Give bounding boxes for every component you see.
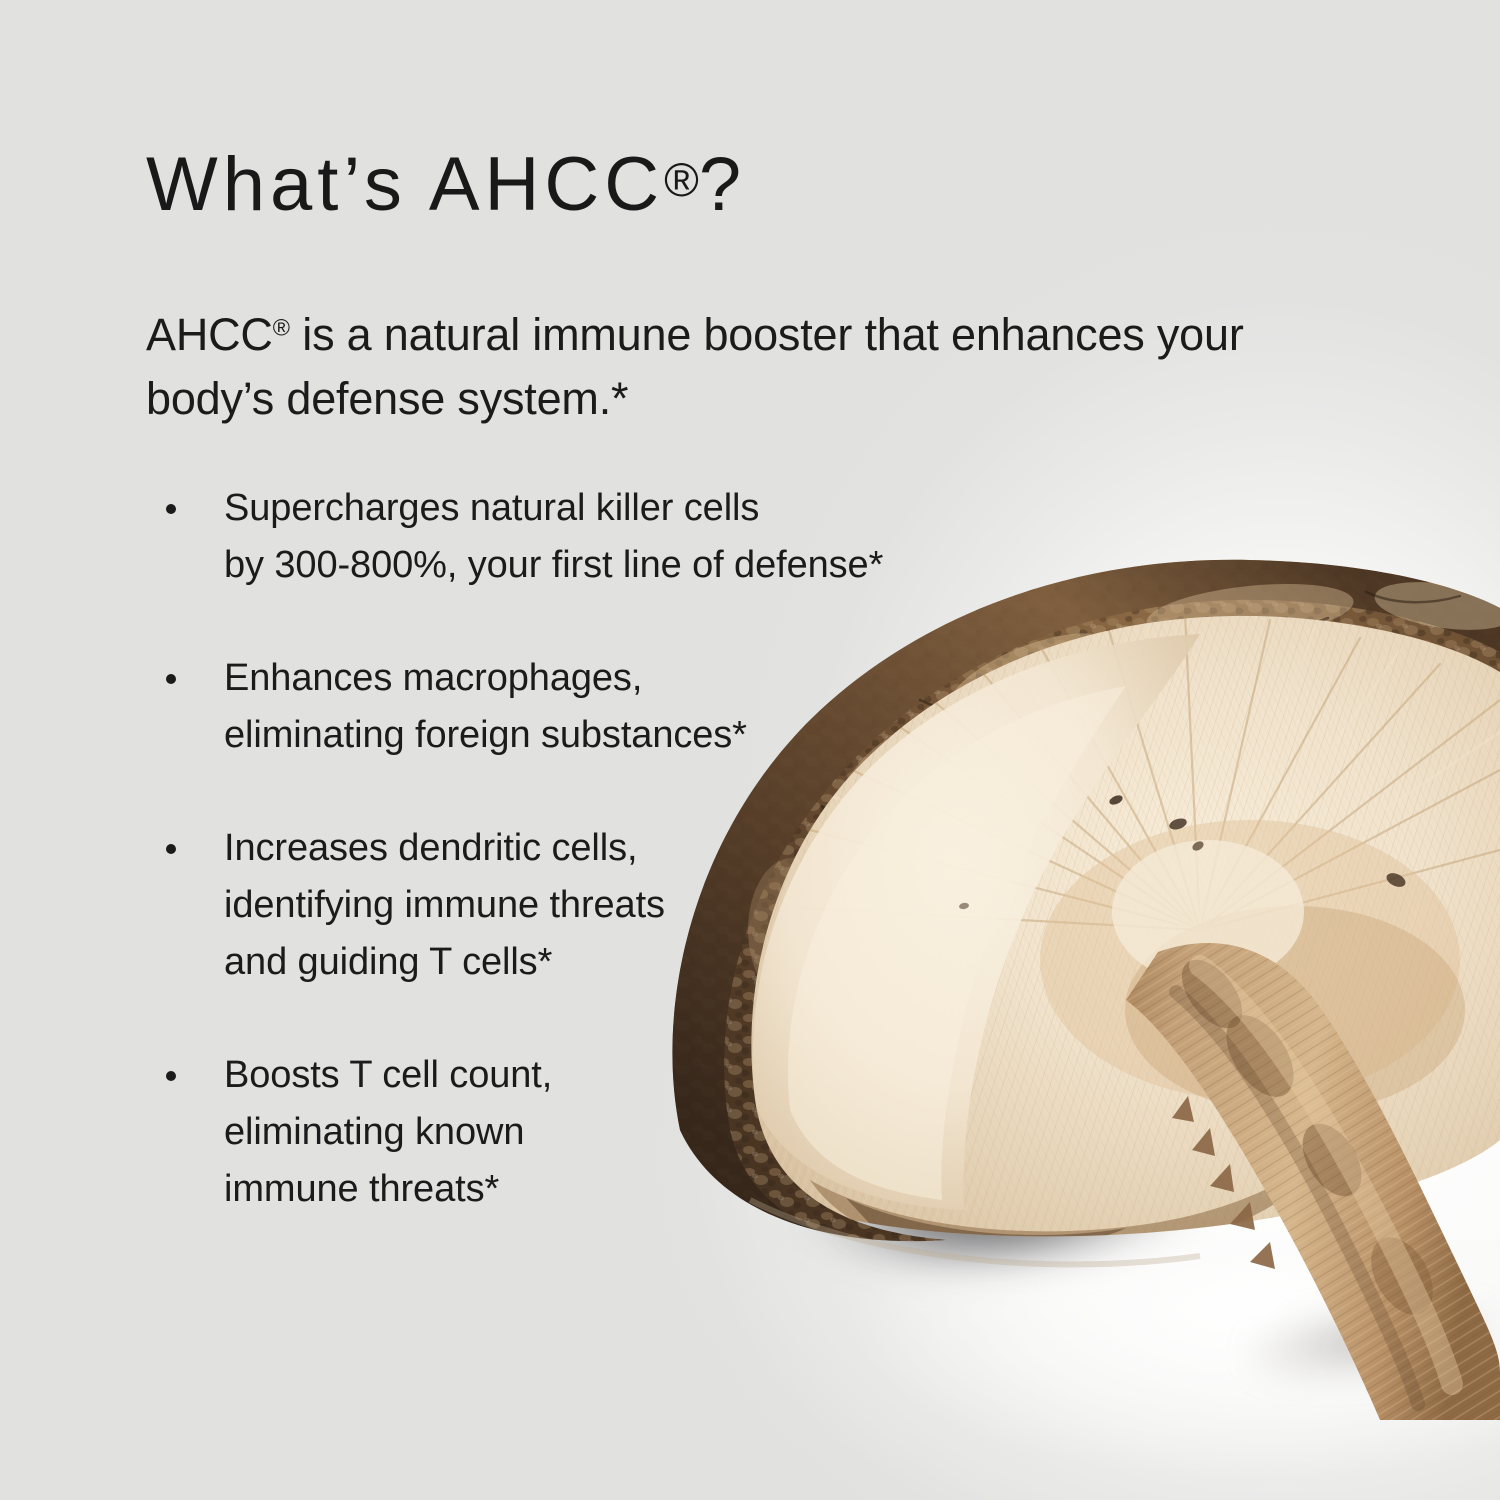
list-item: Increases dendritic cells, identifying i… [150,820,1030,991]
benefits-list: Supercharges natural killer cells by 300… [150,480,1030,1218]
subheading-text: is a natural immune booster that enhance… [146,309,1244,424]
page-title-suffix: ? [699,142,746,227]
list-item-label: Enhances macrophages, eliminating foreig… [224,650,1030,764]
mushroom-stem-shadow [1245,1280,1500,1411]
list-item: Boosts T cell count, eliminating known i… [150,1047,1030,1218]
mushroom-stem-fringe [1172,1096,1275,1269]
bullet-dot-icon [166,674,176,684]
bullet-dot-icon [166,504,176,514]
bullet-dot-icon [166,844,176,854]
text-content: What’s AHCC®? AHCC® is a natural immune … [0,0,1060,1500]
subheading: AHCC® is a natural immune booster that e… [146,303,1256,431]
list-item: Supercharges natural killer cells by 300… [150,480,1030,594]
list-item: Enhances macrophages, eliminating foreig… [150,650,1030,764]
page-title-main: What’s AHCC [146,142,664,227]
registered-trademark-icon: ® [273,315,290,341]
list-item-label: Increases dendritic cells, identifying i… [224,820,1030,991]
bullet-dot-icon [166,1071,176,1081]
registered-trademark-icon: ® [664,153,699,206]
subheading-brand: AHCC [146,309,273,360]
mushroom-background-edge [1405,975,1500,1105]
list-item-label: Boosts T cell count, eliminating known i… [224,1047,1030,1218]
mushroom-stem [1080,900,1500,1440]
page-title: What’s AHCC®? [146,147,746,223]
list-item-label: Supercharges natural killer cells by 300… [224,480,1030,594]
promo-card: What’s AHCC®? AHCC® is a natural immune … [0,0,1500,1500]
